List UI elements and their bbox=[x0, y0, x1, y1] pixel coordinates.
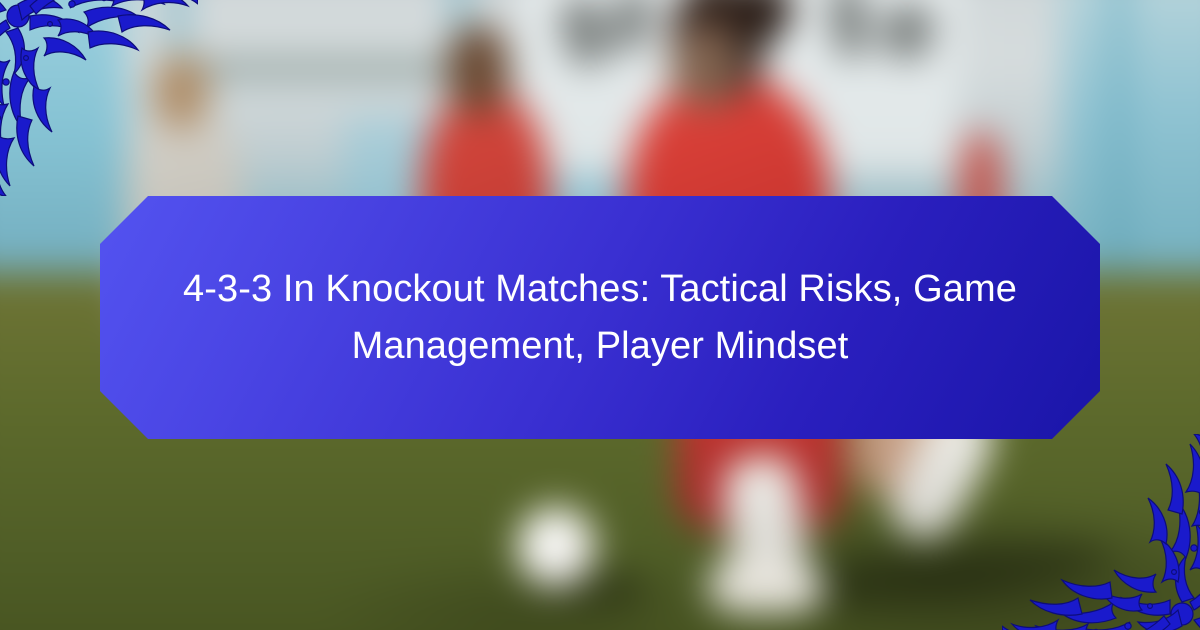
title-banner: 4-3-3 In Knockout Matches: Tactical Risk… bbox=[100, 196, 1100, 439]
background-player-mid-head bbox=[446, 24, 510, 116]
soccer-ball bbox=[517, 507, 596, 589]
goal-crossbar bbox=[165, 59, 459, 77]
banner-card: 4-3-3 In Knockout Matches: Tactical Risk… bbox=[0, 0, 1200, 630]
goal-post bbox=[1112, 0, 1126, 287]
foreground-player-boot bbox=[709, 556, 824, 613]
banner-title: 4-3-3 In Knockout Matches: Tactical Risk… bbox=[100, 261, 1100, 375]
background-player-left-head bbox=[152, 52, 210, 130]
foreground-player-face bbox=[669, 24, 739, 109]
